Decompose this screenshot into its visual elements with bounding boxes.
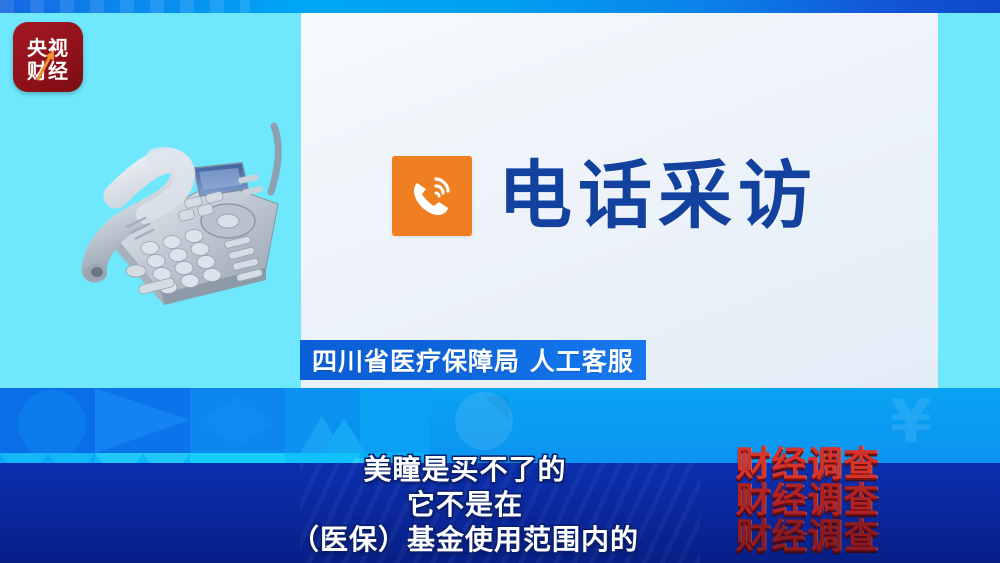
page-title: 电话采访: [498, 159, 818, 233]
subtitle-line-2: 它不是在: [250, 487, 680, 522]
top-gradient-strip: [0, 0, 1000, 14]
subtitle-line-3: （医保）基金使用范围内的: [250, 522, 680, 557]
telephone-call-icon: [392, 156, 472, 236]
caption-text: 四川省医疗保障局 人工客服: [300, 342, 634, 378]
headline-row: 电话采访: [392, 156, 818, 236]
broadcast-frame: 央视 财经: [0, 0, 1000, 563]
program-logo-row-1: 财经调查: [700, 448, 915, 483]
pie-chart-watermark: [455, 392, 513, 450]
desk-telephone-photo: [66, 108, 306, 308]
caption-bar: 四川省医疗保障局 人工客服: [300, 340, 646, 380]
program-logo-row-2: 财经调查: [700, 484, 915, 519]
program-logo-row-3: 财经调查: [700, 520, 915, 555]
currency-watermark: ¥: [890, 392, 932, 452]
subtitle-line-1: 美瞳是买不了的: [250, 452, 680, 487]
cctv-finance-logo: 央视 财经: [13, 22, 83, 92]
subtitle-block: 美瞳是买不了的 它不是在 （医保）基金使用范围内的: [250, 452, 680, 557]
program-logo: 财经调查 财经调查 财经调查: [700, 448, 915, 560]
